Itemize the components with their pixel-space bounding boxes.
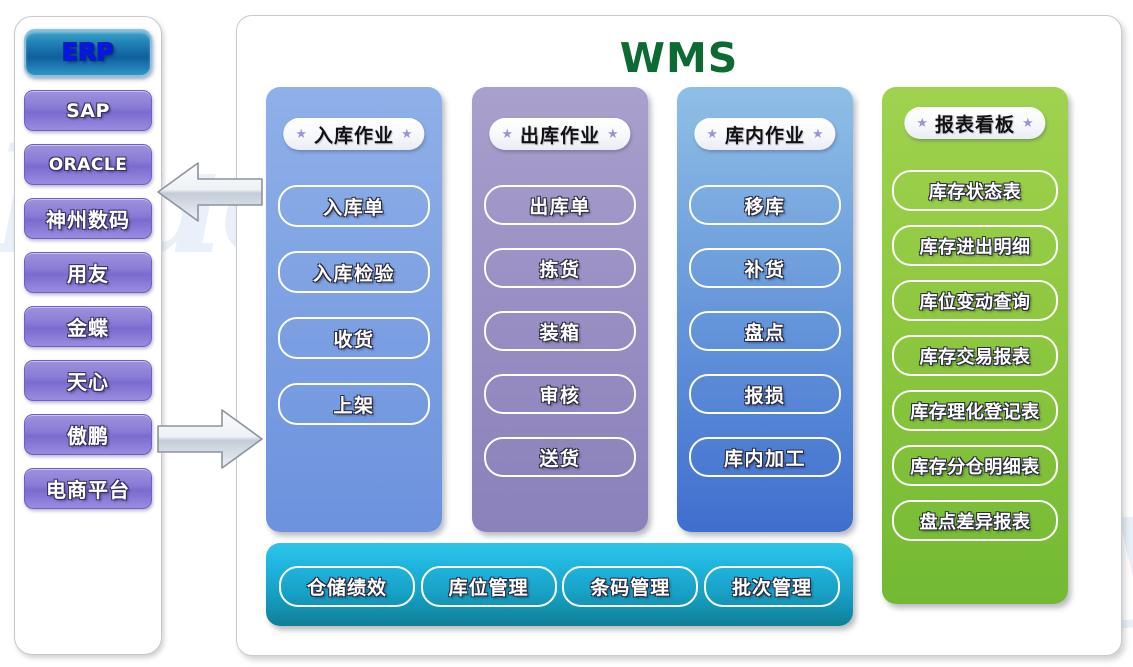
list-item[interactable]: 批次管理: [704, 566, 840, 607]
page-title: WMS: [237, 34, 1121, 82]
star-icon: ★: [401, 128, 413, 141]
star-icon: ★: [706, 128, 718, 141]
column-items-inbound: 入库单 入库检验 收货 上架: [278, 185, 430, 425]
list-item[interactable]: 库位管理: [421, 566, 557, 607]
arrow-left-icon: [156, 158, 264, 226]
list-item[interactable]: 审核: [484, 374, 636, 414]
list-item[interactable]: 库位变动查询: [892, 280, 1058, 321]
column-items-reports: 库存状态表 库存进出明细 库位变动查询 库存交易报表 库存理化登记表 库存分仓明…: [892, 170, 1058, 541]
erp-item-sap[interactable]: SAP: [24, 90, 152, 131]
erp-item-oracle[interactable]: ORACLE: [24, 144, 152, 185]
erp-systems-panel: ERP SAP ORACLE 神州数码 用友 金蝶 天心 傲鹏 电商平台: [14, 16, 162, 655]
list-item[interactable]: 入库检验: [278, 251, 430, 293]
column-outbound: ★ 出库作业 ★ 出库单 拣货 装箱 审核 送货: [472, 87, 648, 532]
erp-item-tianxin[interactable]: 天心: [24, 360, 152, 401]
erp-item-yonyou[interactable]: 用友: [24, 252, 152, 293]
list-item[interactable]: 入库单: [278, 185, 430, 227]
list-item[interactable]: 补货: [689, 248, 841, 288]
erp-item-kingdee[interactable]: 金蝶: [24, 306, 152, 347]
column-items-outbound: 出库单 拣货 装箱 审核 送货: [484, 185, 636, 477]
list-item[interactable]: 移库: [689, 185, 841, 225]
list-item[interactable]: 出库单: [484, 185, 636, 225]
list-item[interactable]: 库内加工: [689, 437, 841, 477]
list-item[interactable]: 库存分仓明细表: [892, 445, 1058, 486]
column-title: 出库作业: [520, 121, 600, 148]
list-item[interactable]: 仓储绩效: [279, 566, 415, 607]
list-item[interactable]: 装箱: [484, 311, 636, 351]
arrow-right-icon: [156, 405, 264, 473]
list-item[interactable]: 库存进出明细: [892, 225, 1058, 266]
column-reports: ★ 报表看板 ★ 库存状态表 库存进出明细 库位变动查询 库存交易报表 库存理化…: [882, 87, 1068, 604]
list-item[interactable]: 库存交易报表: [892, 335, 1058, 376]
list-item[interactable]: 拣货: [484, 248, 636, 288]
column-header-reports: ★ 报表看板 ★: [904, 107, 1045, 139]
star-icon: ★: [916, 117, 928, 130]
erp-item-erp[interactable]: ERP: [24, 29, 152, 77]
star-icon: ★: [1022, 117, 1034, 130]
column-header-outbound: ★ 出库作业 ★: [489, 118, 630, 150]
list-item[interactable]: 报损: [689, 374, 841, 414]
column-header-inbound: ★ 入库作业 ★: [283, 118, 424, 150]
foundation-items: 仓储绩效 库位管理 条码管理 批次管理: [279, 566, 840, 607]
star-icon: ★: [295, 128, 307, 141]
list-item[interactable]: 库存状态表: [892, 170, 1058, 211]
list-item[interactable]: 条码管理: [562, 566, 698, 607]
wms-container: WMS ★ 入库作业 ★ 入库单 入库检验 收货 上架 ★ 出库作业 ★ 出库单…: [236, 15, 1122, 656]
column-title: 库内作业: [725, 121, 805, 148]
star-icon: ★: [812, 128, 824, 141]
star-icon: ★: [501, 128, 513, 141]
list-item[interactable]: 库存理化登记表: [892, 390, 1058, 431]
list-item[interactable]: 送货: [484, 437, 636, 477]
erp-item-ecommerce-platform[interactable]: 电商平台: [24, 468, 152, 509]
erp-item-aopeng[interactable]: 傲鹏: [24, 414, 152, 455]
list-item[interactable]: 收货: [278, 317, 430, 359]
column-in-warehouse: ★ 库内作业 ★ 移库 补货 盘点 报损 库内加工: [677, 87, 853, 532]
column-title: 入库作业: [314, 121, 394, 148]
list-item[interactable]: 上架: [278, 383, 430, 425]
list-item[interactable]: 盘点: [689, 311, 841, 351]
column-inbound: ★ 入库作业 ★ 入库单 入库检验 收货 上架: [266, 87, 442, 532]
column-title: 报表看板: [935, 110, 1015, 137]
erp-systems-list: ERP SAP ORACLE 神州数码 用友 金蝶 天心 傲鹏 电商平台: [24, 29, 152, 509]
column-items-in-warehouse: 移库 补货 盘点 报损 库内加工: [689, 185, 841, 477]
erp-item-digital-china[interactable]: 神州数码: [24, 198, 152, 239]
star-icon: ★: [607, 128, 619, 141]
column-header-in-warehouse: ★ 库内作业 ★: [694, 118, 835, 150]
foundation-bar: 仓储绩效 库位管理 条码管理 批次管理: [266, 543, 853, 626]
list-item[interactable]: 盘点差异报表: [892, 500, 1058, 541]
